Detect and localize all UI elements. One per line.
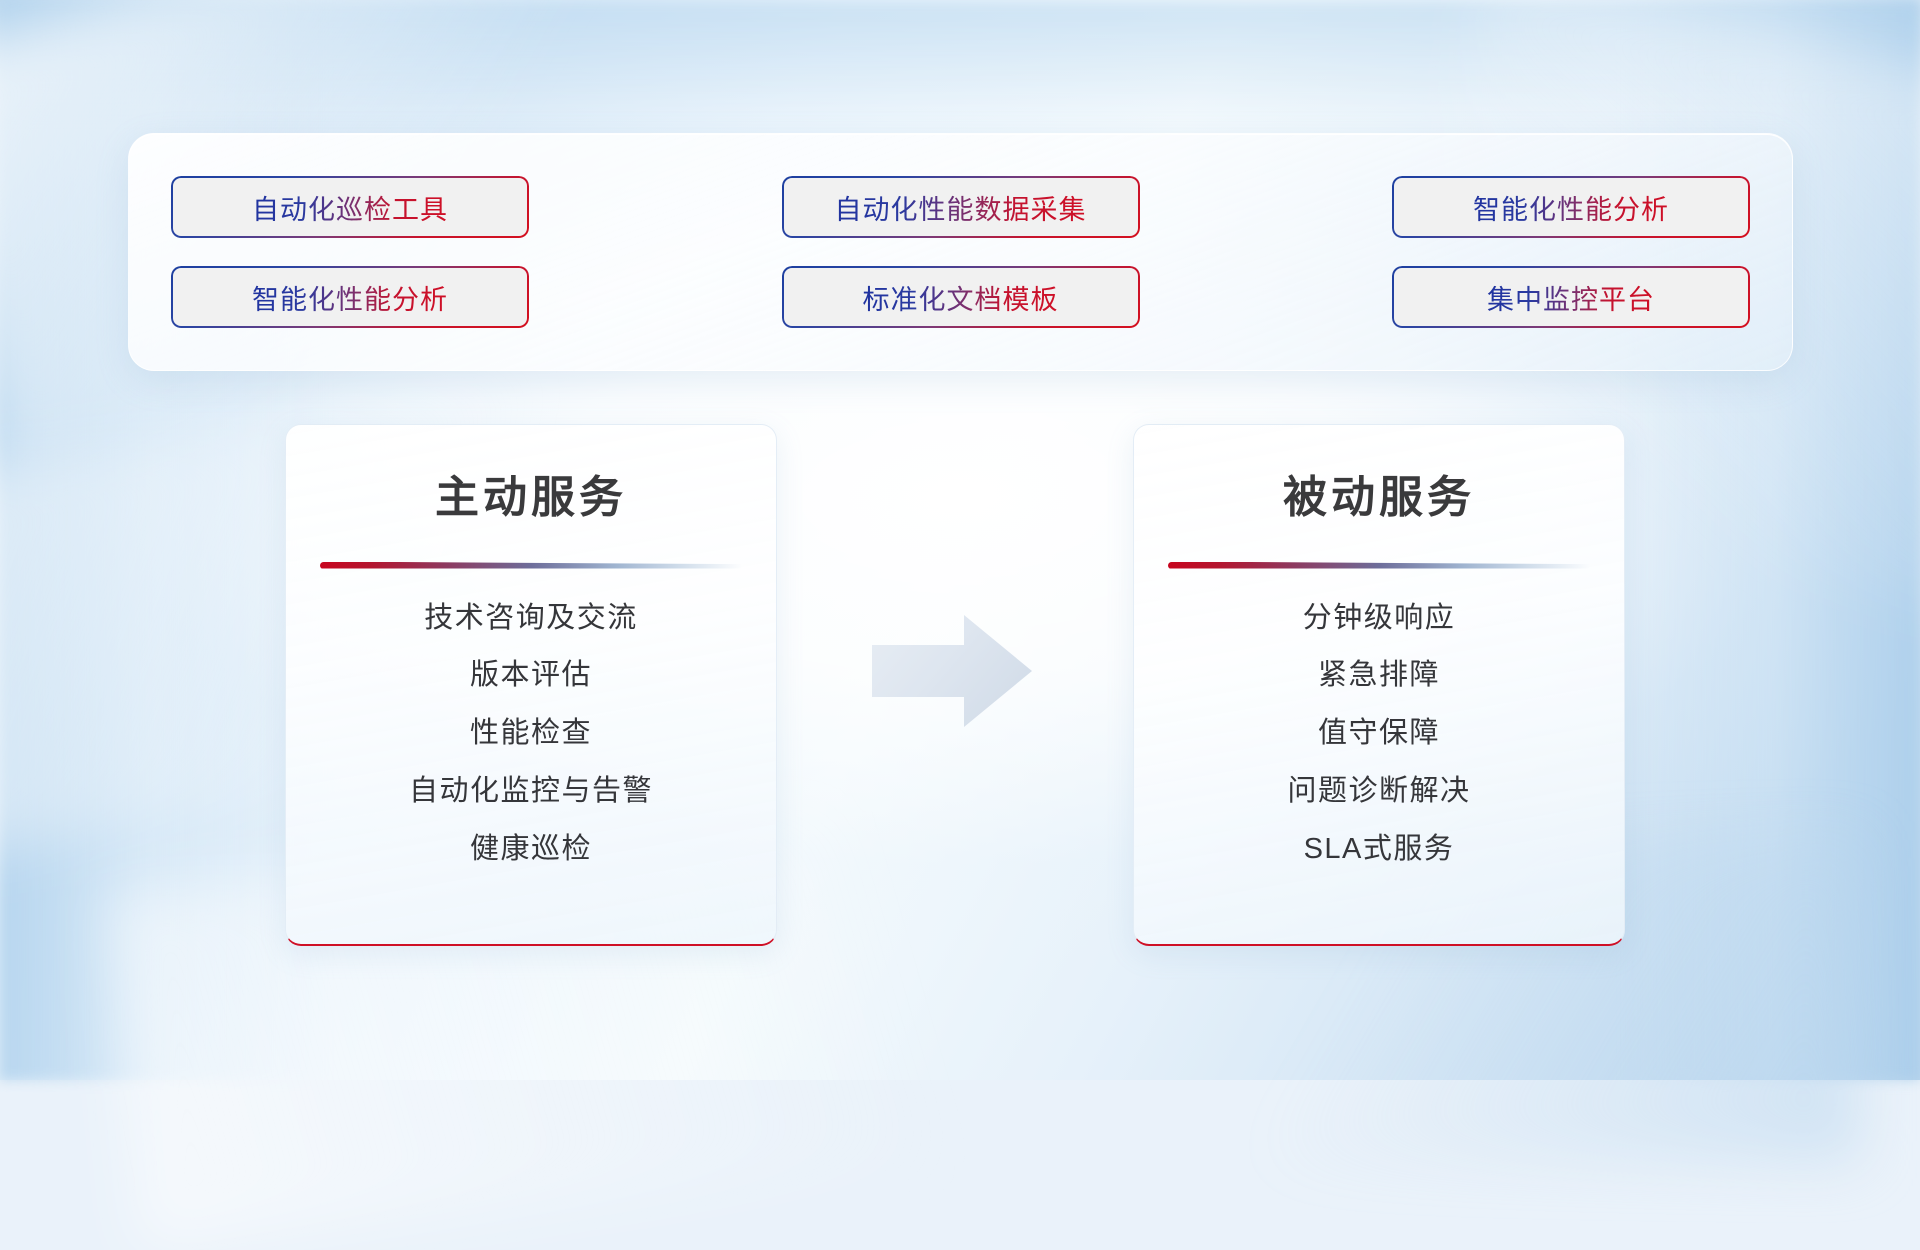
- capability-tag-label: 标准化文档模板: [863, 278, 1059, 317]
- list-item: 版本评估: [286, 660, 776, 692]
- list-item: 自动化监控与告警: [286, 776, 776, 808]
- title-underline-rule: [320, 562, 742, 569]
- arrow-right-icon: [872, 615, 1032, 727]
- capability-tag-label: 集中监控平台: [1487, 278, 1655, 317]
- title-underline-rule: [1168, 562, 1590, 569]
- capability-tag-label: 智能化性能分析: [1473, 188, 1669, 227]
- list-item: 健康巡检: [286, 834, 776, 866]
- capability-tag-row-1: 自动化巡检工具 自动化性能数据采集 智能化性能分析: [171, 176, 1750, 238]
- capability-tag-label: 智能化性能分析: [252, 278, 448, 317]
- list-item: 技术咨询及交流: [286, 603, 776, 635]
- service-card-title: 被动服务: [1134, 461, 1624, 525]
- capability-tag-intelligent-performance-analysis-2[interactable]: 智能化性能分析: [171, 266, 529, 328]
- service-item-list: 技术咨询及交流 版本评估 性能检查 自动化监控与告警 健康巡检: [286, 603, 776, 866]
- capability-tags-panel: 自动化巡检工具 自动化性能数据采集 智能化性能分析 智能化性能分析 标准化文档模…: [128, 133, 1793, 371]
- list-item: 问题诊断解决: [1134, 776, 1624, 808]
- capability-tag-label: 自动化性能数据采集: [835, 188, 1087, 227]
- service-card-reactive: 被动服务 分钟级响应 紧急排障 值守保障 问题诊断解决 SLA式服务: [1133, 424, 1625, 946]
- list-item: SLA式服务: [1134, 834, 1624, 866]
- capability-tag-automated-performance-data-collection[interactable]: 自动化性能数据采集: [782, 176, 1140, 238]
- service-card-title: 主动服务: [286, 461, 776, 525]
- capability-tag-standardized-document-template[interactable]: 标准化文档模板: [782, 266, 1140, 328]
- list-item: 性能检查: [286, 718, 776, 750]
- service-item-list: 分钟级响应 紧急排障 值守保障 问题诊断解决 SLA式服务: [1134, 603, 1624, 866]
- capability-tag-intelligent-performance-analysis-1[interactable]: 智能化性能分析: [1392, 176, 1750, 238]
- list-item: 值守保障: [1134, 718, 1624, 750]
- list-item: 分钟级响应: [1134, 603, 1624, 635]
- capability-tag-automated-inspection-tool[interactable]: 自动化巡检工具: [171, 176, 529, 238]
- capability-tag-label: 自动化巡检工具: [252, 188, 448, 227]
- list-item: 紧急排障: [1134, 660, 1624, 692]
- capability-tag-centralized-monitoring-platform[interactable]: 集中监控平台: [1392, 266, 1750, 328]
- service-card-proactive: 主动服务 技术咨询及交流 版本评估 性能检查 自动化监控与告警 健康巡检: [285, 424, 777, 946]
- capability-tag-row-2: 智能化性能分析 标准化文档模板 集中监控平台: [171, 266, 1750, 328]
- background-top-tint: [0, 0, 1920, 120]
